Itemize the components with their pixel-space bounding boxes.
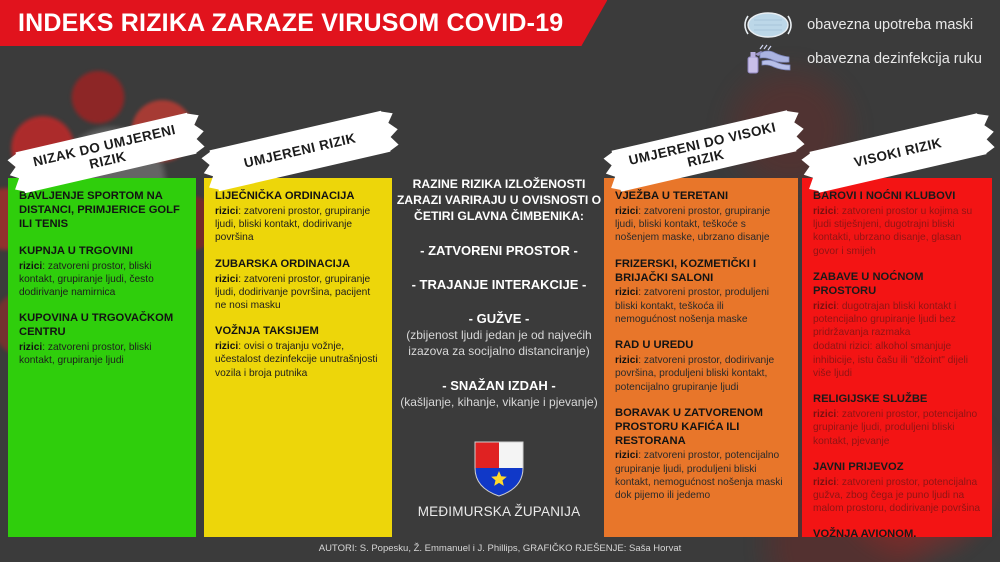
risk-item-body: rizici: zatvoreni prostor, potencijalno …	[615, 449, 787, 502]
risk-item-body: rizici: dugotrajan bliski kontakt i pote…	[813, 300, 981, 381]
risk-item-label: rizici	[813, 477, 836, 488]
risk-item-heading: RELIGIJSKE SLUŽBE	[813, 393, 981, 407]
risk-item-body: rizici: zatvoreni prostor, bliski kontak…	[19, 260, 185, 300]
risk-item-label: rizici	[19, 342, 42, 353]
risk-item-body: rizici: zatvoreni prostor, grupiranje lj…	[215, 205, 381, 245]
risk-item: ZUBARSKA ORDINACIJArizici: zatvoreni pro…	[215, 258, 381, 313]
title-banner: INDEKS RIZIKA ZARAZE VIRUSOM COVID-19	[0, 0, 607, 46]
risk-item-text: : ovisi o trajanju vožnje, učestalost de…	[215, 341, 378, 379]
risk-item: RAD U UREDUrizici: zatvoreni prostor, do…	[615, 339, 787, 394]
risk-item-heading: BAROVI I NOĆNI KLUBOVI	[813, 190, 981, 204]
risk-item-body: rizici: zatvoreni prostor u kojima su lj…	[813, 205, 981, 258]
key-factors-lead: RAZINE RIZIKA IZLOŽENOSTI ZARAZI VARIRAJ…	[396, 176, 602, 224]
risk-item: KUPOVINA U TRGOVAČKOM CENTRUrizici: zatv…	[19, 312, 185, 367]
key-factor-title: - SNAŽAN IZDAH -	[396, 378, 602, 393]
risk-item: FRIZERSKI, KOZMETIČKI I BRIJAČKI SALONIr…	[615, 258, 787, 327]
risk-item-heading: FRIZERSKI, KOZMETIČKI I BRIJAČKI SALONI	[615, 258, 787, 286]
risk-item-heading: KUPNJA U TRGOVINI	[19, 245, 185, 259]
risk-column-moderate: LIJEČNIČKA ORDINACIJArizici: zatvoreni p…	[204, 178, 392, 537]
key-factor-title: - TRAJANJE INTERAKCIJE -	[396, 277, 602, 292]
legend-item-sanitizer-label: obavezna dezinfekcija ruku	[807, 51, 982, 67]
risk-item-label: rizici	[215, 274, 238, 285]
risk-item-text: : zatvoreni prostor, grupiranje ljudi, d…	[215, 274, 370, 312]
legend-item-mask: obavezna upotreba maski	[737, 8, 982, 42]
risk-item-text: : zatvoreni prostor u kojima su ljudi st…	[813, 206, 972, 257]
risk-item-label: rizici	[615, 206, 638, 217]
risk-item-text: : zatvoreni prostor, dodirivanje površin…	[615, 355, 774, 393]
legend: obavezna upotreba maski obavezna dezinfe…	[737, 8, 982, 76]
risk-item: BAVLJENJE SPORTOM NA DISTANCI, PRIMJERIC…	[19, 190, 185, 232]
legend-item-sanitizer: obavezna dezinfekcija ruku	[737, 42, 982, 76]
risk-item-label: rizici	[215, 206, 238, 217]
risk-column-high: BAROVI I NOĆNI KLUBOVIrizici: zatvoreni …	[802, 178, 992, 537]
risk-item: RELIGIJSKE SLUŽBErizici: zatvoreni prost…	[813, 393, 981, 448]
risk-item-body: rizici: zatvoreni prostor, potencijalno …	[813, 408, 981, 448]
risk-item-heading: BAVLJENJE SPORTOM NA DISTANCI, PRIMJERIC…	[19, 190, 185, 232]
risk-item-heading: RAD U UREDU	[615, 339, 787, 353]
risk-item-text: : zatvoreni prostor, potencijalno grupir…	[813, 409, 977, 447]
county-name-label: MEĐIMURSKA ŽUPANIJA	[396, 504, 602, 519]
key-factor-title: - ZATVORENI PROSTOR -	[396, 243, 602, 258]
key-factors-panel: RAZINE RIZIKA IZLOŽENOSTI ZARAZI VARIRAJ…	[396, 176, 602, 411]
risk-item-heading: LIJEČNIČKA ORDINACIJA	[215, 190, 381, 204]
risk-item: VOŽNJA TAKSIJEMrizici: ovisi o trajanju …	[215, 325, 381, 380]
risk-item-text: : zatvoreni prostor, produljeni bliski k…	[615, 287, 769, 325]
face-mask-icon	[737, 10, 799, 40]
risk-item-body: rizici: zatvoreni prostor, potencijalna …	[813, 476, 981, 516]
risk-item-label: rizici	[813, 301, 836, 312]
county-crest-block: MEĐIMURSKA ŽUPANIJA	[396, 440, 602, 519]
risk-item-body: rizici: ovisi o trajanju vožnje, učestal…	[215, 340, 381, 380]
key-factor-subtext: (kašljanje, kihanje, vikanje i pjevanje)	[396, 395, 602, 411]
risk-item-label: rizici	[813, 206, 836, 217]
risk-column-low-to-moderate: BAVLJENJE SPORTOM NA DISTANCI, PRIMJERIC…	[8, 178, 196, 537]
risk-item-heading: ZABAVE U NOĆNOM PROSTORU	[813, 271, 981, 299]
risk-item-label: rizici	[615, 355, 638, 366]
medimurje-coat-of-arms-icon	[473, 440, 525, 498]
key-factor-subtext: (zbijenost ljudi jedan je od najvećih iz…	[396, 328, 602, 359]
risk-item-body: rizici: zatvoreni prostor, grupiranje lj…	[615, 205, 787, 245]
risk-item: BORAVAK U ZATVORENOM PROSTORU KAFIĆA ILI…	[615, 407, 787, 503]
key-factor-title: - GUŽVE -	[396, 311, 602, 326]
risk-item-text: : zatvoreni prostor, grupiranje ljudi, b…	[615, 206, 770, 244]
risk-item-heading: BORAVAK U ZATVORENOM PROSTORU KAFIĆA ILI…	[615, 407, 787, 449]
risk-item: VJEŽBA U TERETANIrizici: zatvoreni prost…	[615, 190, 787, 245]
hand-sanitizer-icon	[737, 43, 799, 75]
risk-item: ZABAVE U NOĆNOM PROSTORUrizici: dugotraj…	[813, 271, 981, 380]
key-factors-list: - ZATVORENI PROSTOR -- TRAJANJE INTERAKC…	[396, 243, 602, 411]
risk-item-text: : zatvoreni prostor, potencijalna gužva,…	[813, 477, 980, 515]
risk-item-label: rizici	[813, 409, 836, 420]
risk-item-body: rizici: zatvoreni prostor, dodirivanje p…	[615, 354, 787, 394]
risk-item-extra: dodatni rizici: alkohol smanjuje inhibic…	[813, 340, 981, 380]
risk-item-heading: VOŽNJA TAKSIJEM	[215, 325, 381, 339]
risk-item-heading: VJEŽBA U TERETANI	[615, 190, 787, 204]
risk-item-heading: JAVNI PRIJEVOZ	[813, 461, 981, 475]
credits-footer: AUTORI: S. Popesku, Ž. Emmanuel i J. Phi…	[0, 543, 1000, 554]
risk-item-label: rizici	[19, 261, 42, 272]
risk-item: LIJEČNIČKA ORDINACIJArizici: zatvoreni p…	[215, 190, 381, 245]
risk-item-body: rizici: zatvoreni prostor, bliski kontak…	[19, 341, 185, 368]
legend-item-mask-label: obavezna upotreba maski	[807, 17, 973, 33]
risk-item-heading: KUPOVINA U TRGOVAČKOM CENTRU	[19, 312, 185, 340]
risk-item-body: rizici: zatvoreni prostor, grupiranje lj…	[215, 273, 381, 313]
risk-item-label: rizici	[615, 287, 638, 298]
risk-item: BAROVI I NOĆNI KLUBOVIrizici: zatvoreni …	[813, 190, 981, 258]
risk-item-label: rizici	[615, 450, 638, 461]
ribbon-high-label: VISOKI RIZIK	[843, 133, 953, 172]
infographic-root: INDEKS RIZIKA ZARAZE VIRUSOM COVID-19 ob…	[0, 0, 1000, 562]
risk-item: VOŽNJA AVIONOM, KONTAKTNI SPORTOVI, KINO…	[813, 528, 981, 537]
risk-column-moderate-to-high: VJEŽBA U TERETANIrizici: zatvoreni prost…	[604, 178, 798, 537]
risk-item: KUPNJA U TRGOVINIrizici: zatvoreni prost…	[19, 245, 185, 300]
risk-item-text: : zatvoreni prostor, potencijalno grupir…	[615, 450, 783, 501]
risk-item: JAVNI PRIJEVOZrizici: zatvoreni prostor,…	[813, 461, 981, 516]
risk-item-heading: ZUBARSKA ORDINACIJA	[215, 258, 381, 272]
page-title: INDEKS RIZIKA ZARAZE VIRUSOM COVID-19	[18, 9, 563, 38]
risk-item-text: : zatvoreni prostor, grupiranje ljudi, b…	[215, 206, 370, 244]
risk-item-body: rizici: zatvoreni prostor, produljeni bl…	[615, 286, 787, 326]
risk-item-heading: VOŽNJA AVIONOM, KONTAKTNI SPORTOVI, KINO…	[813, 528, 981, 537]
risk-item-label: rizici	[215, 341, 238, 352]
